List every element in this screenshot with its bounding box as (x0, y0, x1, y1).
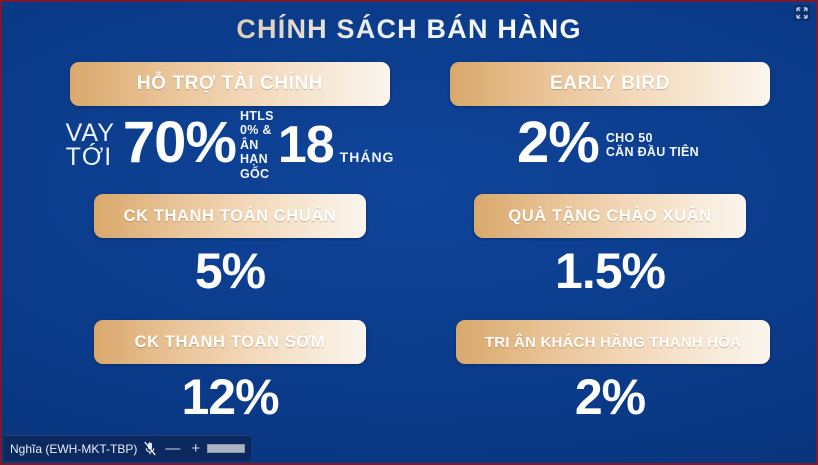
policy-pill-ho-tro-tai-chinh[interactable]: HỖ TRỢ TÀI CHÍNH (70, 62, 390, 106)
policy-pill-label: QUÀ TẶNG CHÀO XUÂN (508, 207, 711, 226)
volume-increase-button[interactable]: + (189, 441, 202, 456)
policy-value-row-financing: VAY TỚI 70% HTLS 0% & ÂN HẠN GỐC 18 THÁN… (70, 114, 390, 176)
note-line-2: ÂN HẠN GỐC (240, 138, 274, 181)
prefix-line-2: TỚI (66, 145, 115, 170)
policy-pill-ck-thanh-toan-som[interactable]: CK THANH TOÁN SỚM (94, 320, 366, 364)
policy-pill-label: EARLY BIRD (550, 73, 670, 95)
policy-pill-label: CK THANH TOÁN CHUẨN (124, 207, 337, 226)
policy-value-row-spring-gift: 1.5% (450, 246, 770, 308)
microphone-muted-icon (144, 441, 156, 456)
note-line-1: HTLS 0% & (240, 109, 274, 138)
policy-pill-label: CK THANH TOÁN SỚM (135, 333, 326, 352)
policy-value-row-early-bird: 2% CHO 50 CĂN ĐẦU TIÊN (450, 114, 770, 176)
prefix-vay-toi: VAY TỚI (66, 121, 115, 170)
volume-decrease-button[interactable]: — (163, 441, 182, 456)
volume-slider[interactable] (207, 444, 245, 453)
participant-name-label: Nghĩa (EWH-MKT-TBP) (10, 442, 137, 456)
screen-share-frame: CHÍNH SÁCH BÁN HÀNG HỖ TRỢ TÀI CHÍNH VAY… (0, 0, 818, 465)
policy-value-row-loyalty: 2% (450, 372, 770, 434)
policy-pill-label: TRI ÂN KHÁCH HÀNG THANH HÓA (485, 334, 741, 351)
policy-value-row-standard-discount: 5% (70, 246, 390, 308)
value-loan-percent: 70% (123, 114, 236, 172)
policy-column-left: HỖ TRỢ TÀI CHÍNH VAY TỚI 70% HTLS 0% & Â… (70, 62, 390, 434)
policy-pill-ck-thanh-toan-chuan[interactable]: CK THANH TOÁN CHUẨN (94, 194, 366, 238)
note-line-1: CHO 50 (606, 131, 699, 145)
policy-pill-label: HỖ TRỢ TÀI CHÍNH (137, 73, 323, 95)
value-standard-discount: 5% (195, 246, 265, 296)
value-spring-gift: 1.5% (555, 246, 665, 296)
policy-pill-qua-tang-chao-xuan[interactable]: QUÀ TẶNG CHÀO XUÂN (474, 194, 746, 238)
page-title: CHÍNH SÁCH BÁN HÀNG (2, 14, 816, 45)
presentation-slide: CHÍNH SÁCH BÁN HÀNG HỖ TRỢ TÀI CHÍNH VAY… (2, 2, 816, 463)
note-line-2: CĂN ĐẦU TIÊN (606, 145, 699, 159)
policy-column-right: EARLY BIRD 2% CHO 50 CĂN ĐẦU TIÊN QUÀ TẶ… (450, 62, 770, 434)
note-htls: HTLS 0% & ÂN HẠN GỐC (240, 109, 274, 181)
unit-thang: THÁNG (340, 149, 395, 165)
note-early-bird: CHO 50 CĂN ĐẦU TIÊN (606, 131, 699, 160)
value-early-bird-percent: 2% (517, 114, 599, 172)
value-loyalty: 2% (575, 372, 645, 422)
policy-value-row-early-discount: 12% (70, 372, 390, 434)
policy-pill-tri-an-khach-hang-thanh-hoa[interactable]: TRI ÂN KHÁCH HÀNG THANH HÓA (456, 320, 770, 364)
policy-pill-early-bird[interactable]: EARLY BIRD (450, 62, 770, 106)
value-early-discount: 12% (181, 372, 278, 422)
participant-name-bar[interactable]: Nghĩa (EWH-MKT-TBP) — + (4, 435, 251, 461)
fullscreen-expand-icon[interactable] (794, 5, 810, 21)
prefix-line-1: VAY (66, 121, 115, 146)
value-grace-months: 18 (278, 119, 334, 171)
